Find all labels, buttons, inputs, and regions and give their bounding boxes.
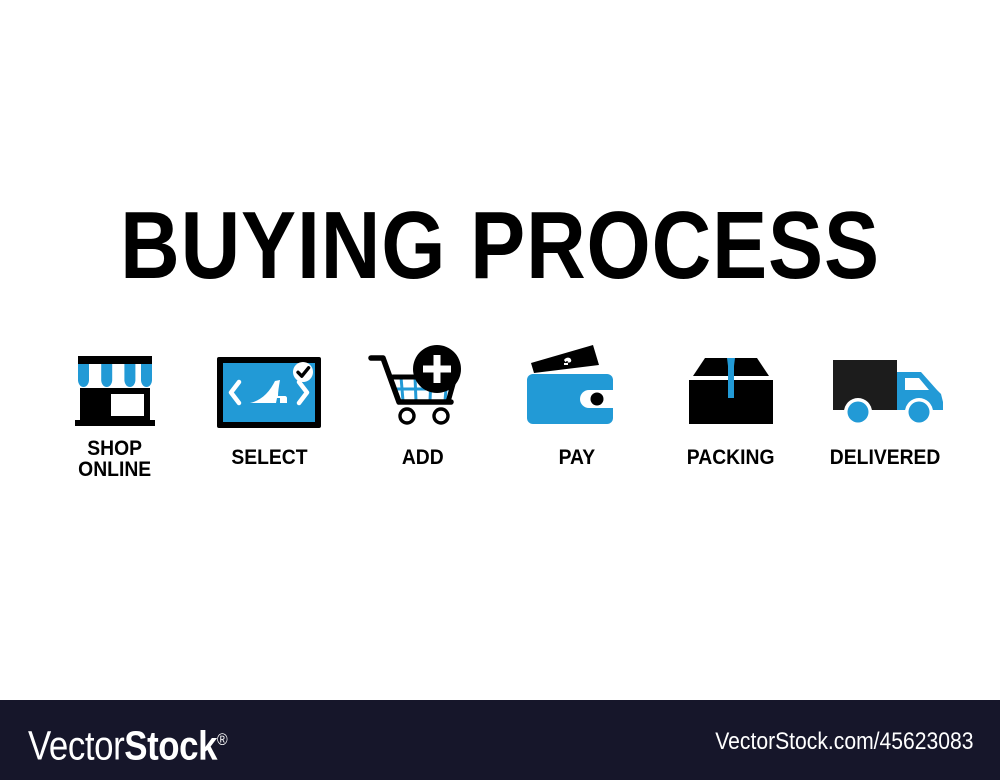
screen-shoe-select-icon bbox=[209, 336, 329, 436]
step-label: PACKING bbox=[687, 447, 775, 468]
step-label: PAY bbox=[559, 447, 596, 468]
page-title: BUYING PROCESS bbox=[70, 196, 930, 296]
step-label: DELIVERED bbox=[830, 447, 941, 468]
step-pay[interactable]: PAY bbox=[502, 336, 652, 468]
wallet-card-icon bbox=[517, 336, 637, 436]
watermark-footer: VectorStock® VectorStock.com/45623083 bbox=[0, 700, 1000, 780]
package-box-icon bbox=[671, 336, 791, 436]
step-shop-online[interactable]: SHOP ONLINE bbox=[40, 336, 190, 480]
illustration-canvas: BUYING PROCESS bbox=[0, 0, 1000, 780]
shopping-cart-plus-icon bbox=[363, 336, 483, 436]
step-packing[interactable]: PACKING bbox=[656, 336, 806, 468]
step-select[interactable]: SELECT bbox=[194, 336, 344, 468]
footer-url: VectorStock.com/45623083 bbox=[716, 730, 974, 754]
step-add[interactable]: ADD bbox=[348, 336, 498, 468]
step-delivered[interactable]: DELIVERED bbox=[810, 336, 960, 468]
storefront-icon bbox=[55, 336, 175, 436]
vectorstock-logo: VectorStock® bbox=[28, 719, 227, 767]
logo-text-light: Vector bbox=[28, 723, 124, 769]
buying-process-steps: SHOP ONLINE bbox=[40, 336, 960, 506]
step-label: SHOP ONLINE bbox=[79, 438, 152, 480]
step-label: SELECT bbox=[231, 447, 307, 468]
delivery-truck-icon bbox=[825, 336, 945, 436]
logo-text-bold: Stock bbox=[124, 723, 217, 769]
step-label: ADD bbox=[402, 447, 444, 468]
registered-mark-icon: ® bbox=[217, 730, 227, 749]
